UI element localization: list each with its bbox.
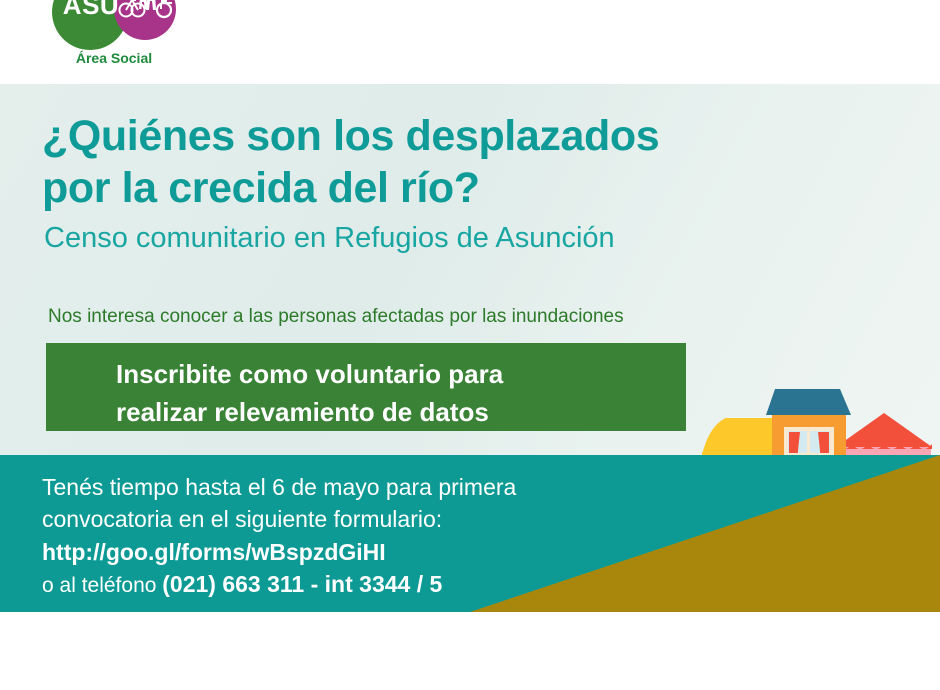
callout-line-2: realizar relevamiento de datos — [116, 393, 676, 431]
poster-root: ¿Quiénes son los desplazados por la crec… — [0, 0, 940, 690]
volunteer-callout-text: Inscribite como voluntario para realizar… — [116, 355, 676, 431]
intro-text: Nos interesa conocer a las personas afec… — [48, 305, 728, 329]
asu-logo-text: ASU — [58, 0, 124, 21]
volunteer-callout-box: Inscribite como voluntario para realizar… — [46, 343, 686, 431]
phone-line: o al teléfono (021) 663 311 - int 3344 /… — [42, 569, 662, 601]
contact-line-1: Tenés tiempo hasta el 6 de mayo para pri… — [42, 471, 662, 503]
pink-house-roof — [836, 413, 932, 447]
orange-house-roof — [766, 389, 851, 415]
page-title: ¿Quiénes son los desplazados por la crec… — [42, 110, 742, 214]
phone-prefix-label: o al teléfono — [42, 574, 162, 597]
form-url-link[interactable]: http://goo.gl/forms/wBspzdGiHI — [42, 535, 662, 569]
footer-band: ASU Gobierno Municipal de Asunción. f Di… — [0, 612, 940, 690]
header-band: ASU Área Social — [0, 0, 940, 84]
phone-number: (021) 663 311 - int 3344 / 5 — [162, 571, 442, 597]
headline-line-2: por la crecida del río? — [42, 162, 742, 214]
people-accessibility-icon — [118, 0, 172, 22]
callout-line-1: Inscribite como voluntario para — [116, 355, 676, 393]
asu-logo: ASU — [52, 0, 176, 42]
area-social-label: Área Social — [52, 50, 176, 66]
page-subtitle: Censo comunitario en Refugios de Asunció… — [44, 220, 744, 256]
headline-line-1: ¿Quiénes son los desplazados — [42, 110, 742, 162]
contact-line-2: convocatoria en el siguiente formulario: — [42, 503, 662, 535]
contact-info-block: Tenés tiempo hasta el 6 de mayo para pri… — [42, 471, 662, 601]
